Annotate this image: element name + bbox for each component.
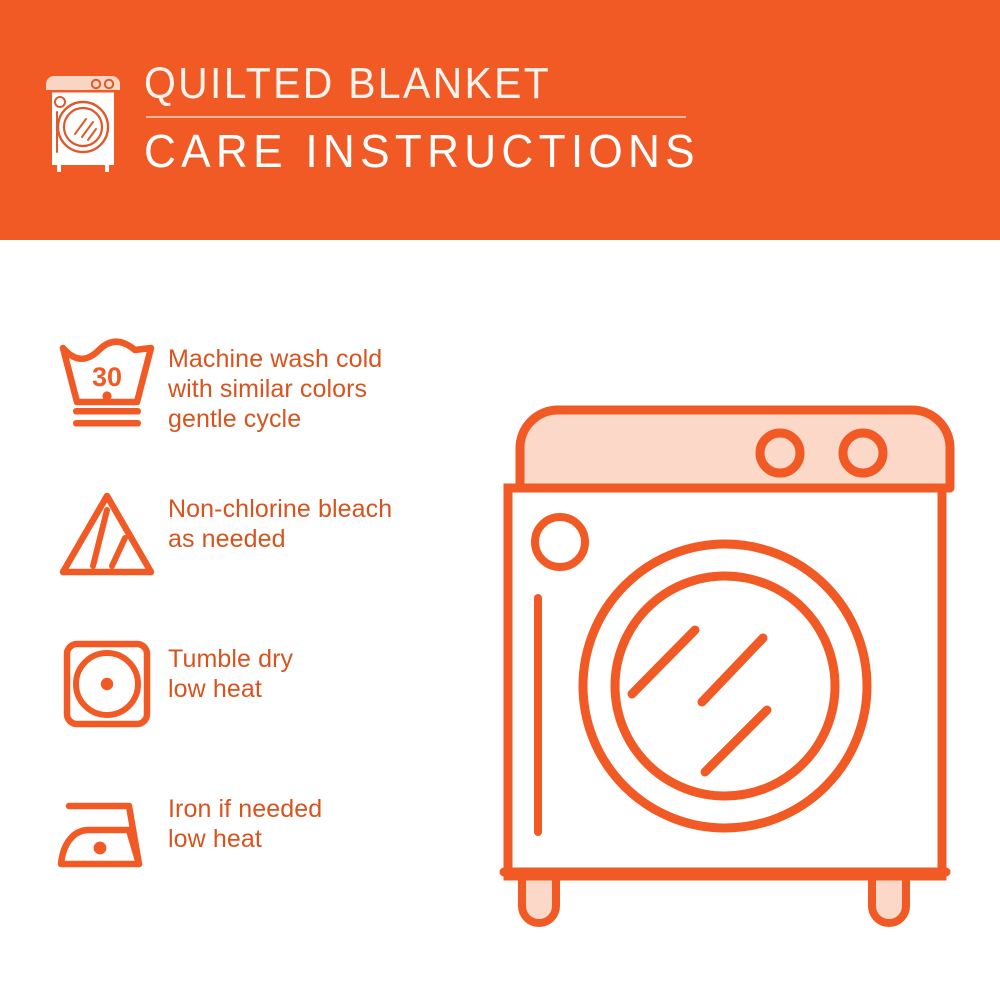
wash-tub-30-icon: 30 — [46, 330, 168, 432]
care-row-tumble-dry: Tumble dry low heat — [46, 630, 476, 780]
iron-low-heat-icon — [46, 780, 168, 882]
care-row-machine-wash: 30 Machine wash cold with similar colors… — [46, 330, 476, 480]
care-label-iron: Iron if needed low heat — [168, 780, 322, 854]
care-line: with similar colors — [168, 374, 382, 404]
washing-machine-icon — [44, 64, 126, 176]
care-line: low heat — [168, 824, 322, 854]
care-instructions-list: 30 Machine wash cold with similar colors… — [46, 330, 476, 930]
care-label-tumble-dry: Tumble dry low heat — [168, 630, 293, 704]
front-load-washing-machine-illustration — [480, 320, 980, 940]
wash-temp-value: 30 — [92, 362, 122, 392]
care-row-iron: Iron if needed low heat — [46, 780, 476, 930]
title-divider — [146, 116, 686, 118]
header-content: QUILTED BLANKET CARE INSTRUCTIONS — [44, 58, 723, 178]
page-subtitle: CARE INSTRUCTIONS — [144, 124, 700, 178]
care-label-bleach: Non-chlorine bleach as needed — [168, 480, 392, 554]
care-line: Non-chlorine bleach — [168, 494, 392, 524]
header-banner: QUILTED BLANKET CARE INSTRUCTIONS — [0, 0, 1000, 240]
care-row-bleach: Non-chlorine bleach as needed — [46, 480, 476, 630]
care-line: Machine wash cold — [168, 344, 382, 374]
care-line: Iron if needed — [168, 794, 322, 824]
non-chlorine-bleach-triangle-icon — [46, 480, 168, 582]
care-line: low heat — [168, 674, 293, 704]
care-line: as needed — [168, 524, 392, 554]
page-title: QUILTED BLANKET — [144, 58, 683, 110]
care-label-machine-wash: Machine wash cold with similar colors ge… — [168, 330, 382, 434]
care-line: Tumble dry — [168, 644, 293, 674]
header-title-block: QUILTED BLANKET CARE INSTRUCTIONS — [144, 58, 723, 178]
tumble-dry-low-icon — [46, 630, 168, 732]
care-line: gentle cycle — [168, 404, 382, 434]
